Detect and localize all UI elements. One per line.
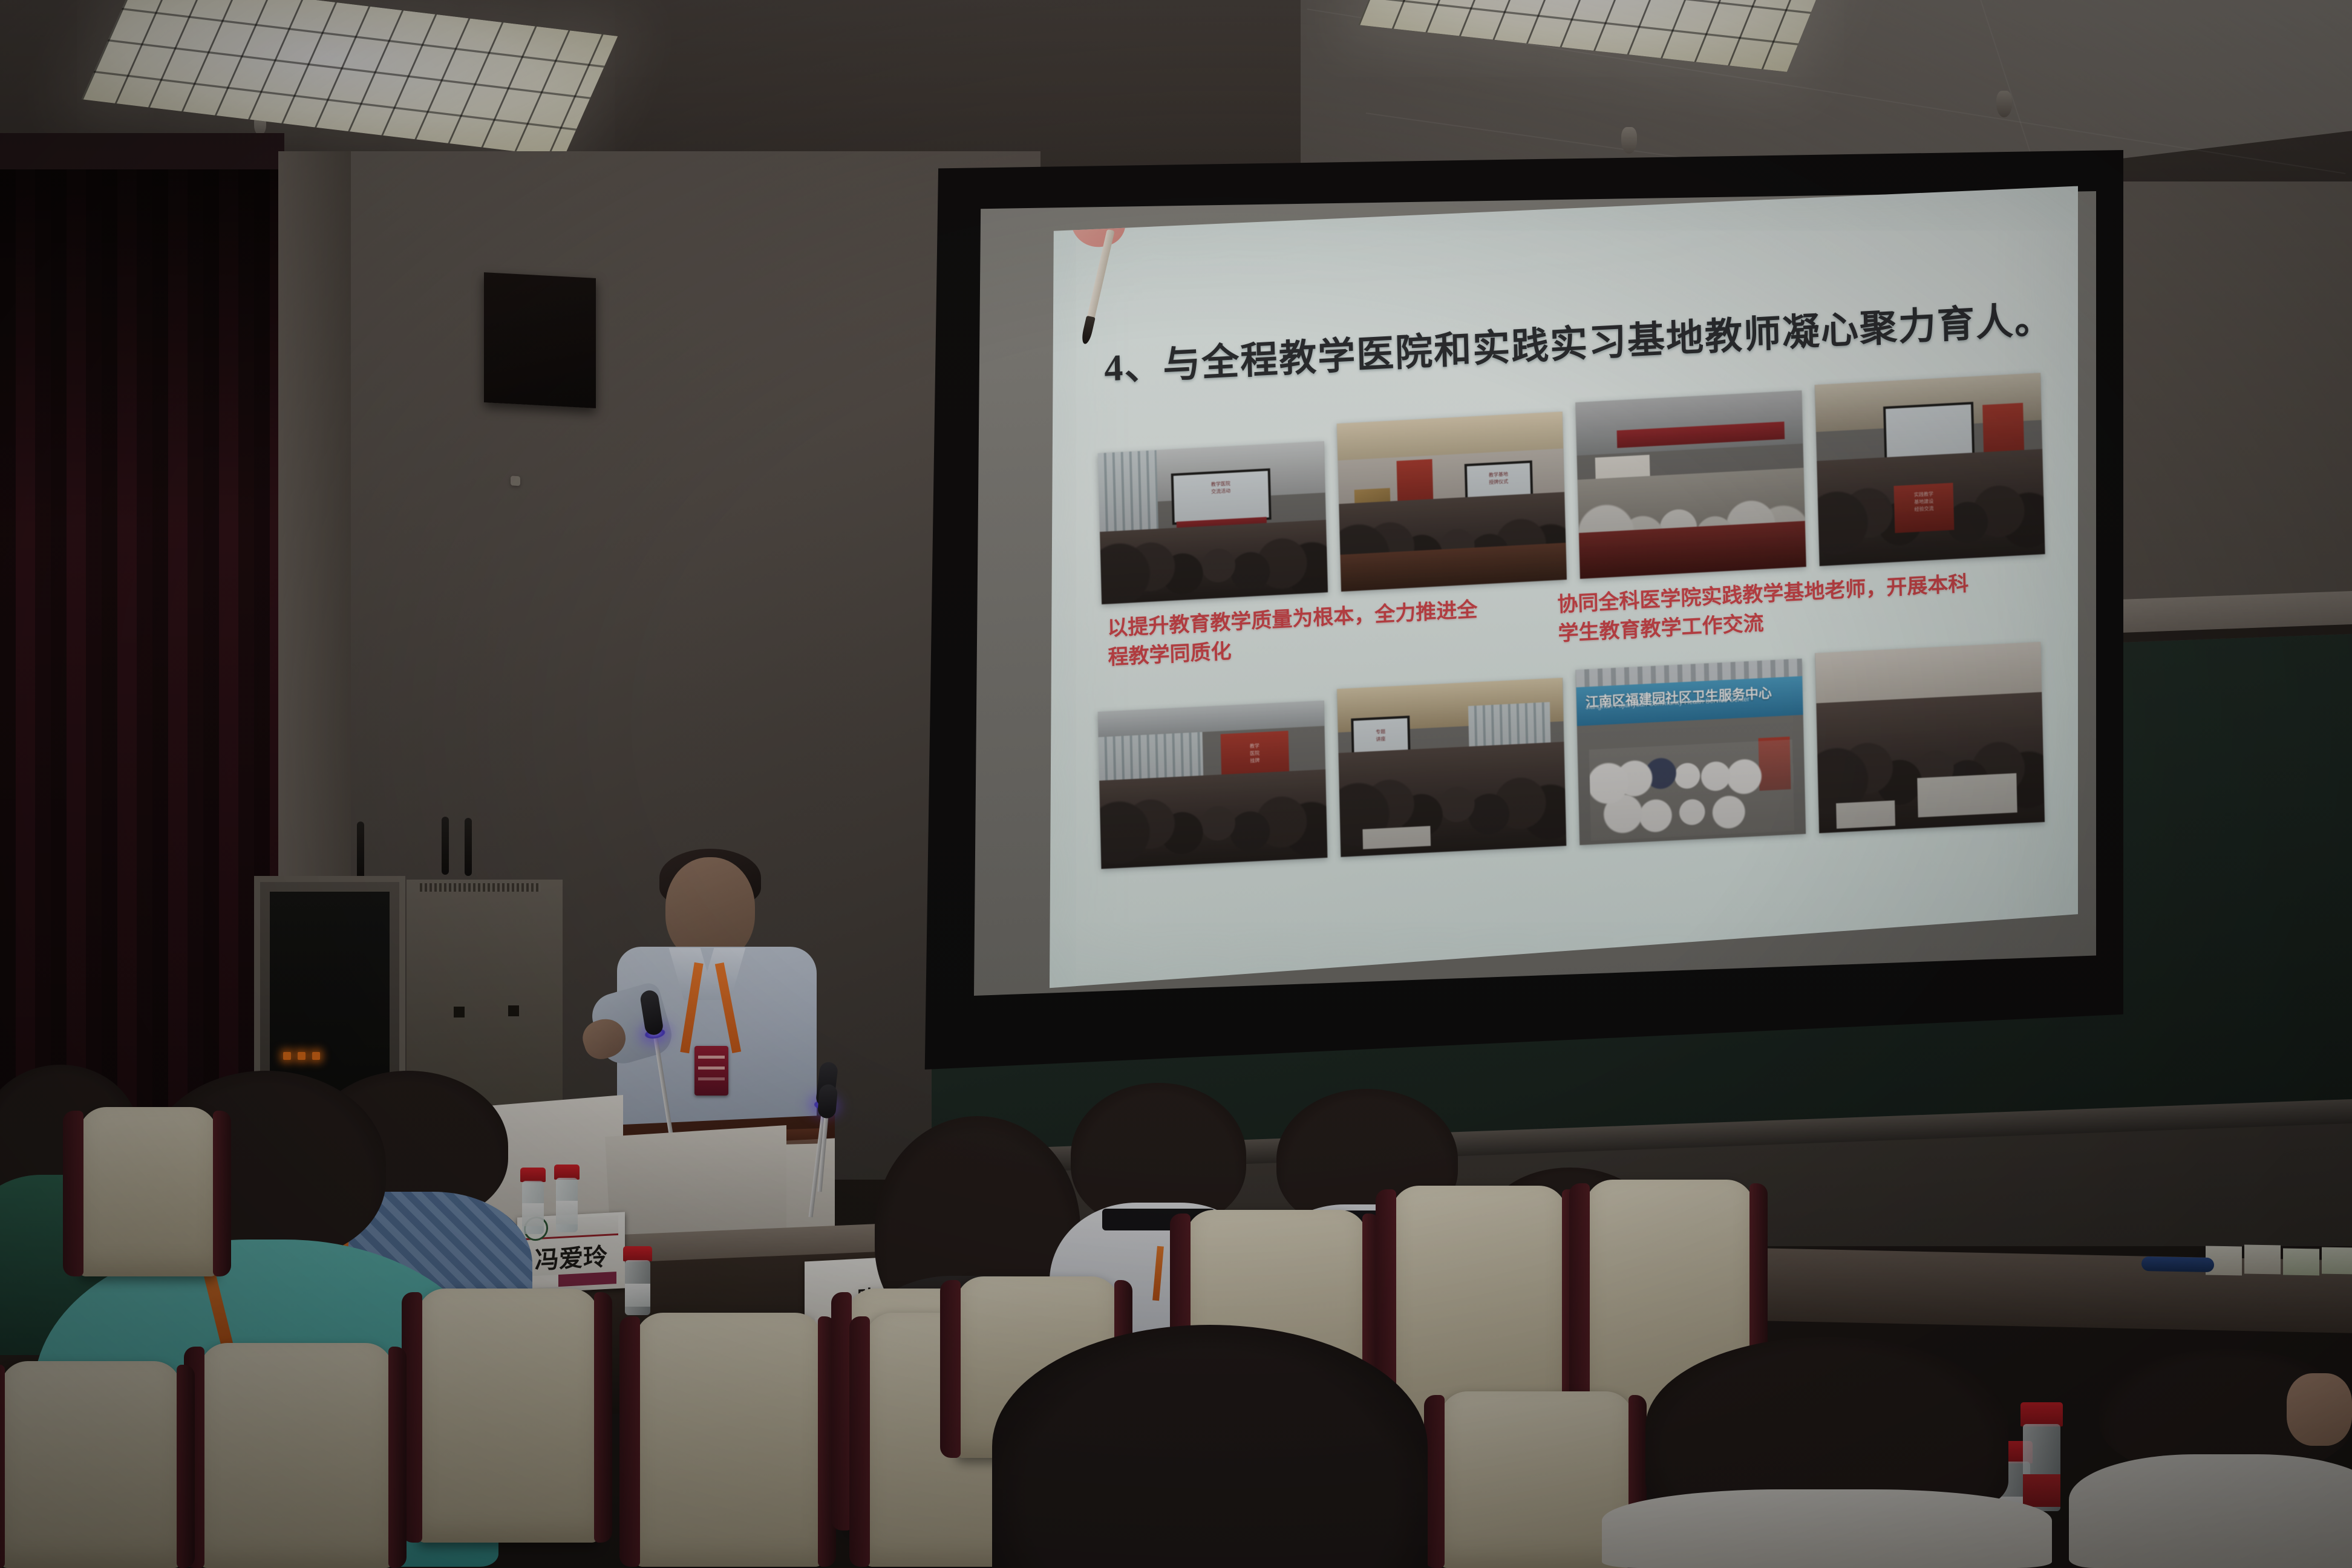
- chair: [0, 1361, 181, 1568]
- slide-photo-row-top: 教学医院交流活动 教学基地授牌仪式: [1097, 373, 2045, 604]
- slide-caption-left: 以提升教育教学质量为根本，全力推进全程教学同质化: [1107, 595, 1495, 673]
- presenter-head: [665, 857, 755, 961]
- water-bottle: [520, 1168, 546, 1234]
- water-bottle: [554, 1165, 580, 1232]
- lock-icon: [508, 1005, 519, 1016]
- slide-photo-community-health-center: 江南区福建园社区卫生服务中心 Jiangnan Fujianyuan Commu…: [1576, 659, 1806, 845]
- rack-status-leds: [283, 1052, 320, 1060]
- slide-title: 4、与全程教学医院和实践实习基地教师凝心聚力育人。: [1103, 289, 2048, 391]
- water-bottle: [623, 1246, 652, 1315]
- slide-photo-documents: [1815, 642, 2045, 833]
- chair: [417, 1289, 599, 1543]
- antenna-icon: [357, 822, 364, 880]
- attendee-hand: [2287, 1373, 2352, 1446]
- presenter-id-badge: [694, 1046, 728, 1096]
- supply-box: [2244, 1244, 2281, 1274]
- slide-photo-hall-seminar: [1575, 390, 1806, 579]
- namecard-name: 冯爱玲: [517, 1236, 625, 1277]
- chair: [635, 1313, 823, 1567]
- slide-photo-classroom: 教学医院挂牌: [1098, 701, 1327, 869]
- slide-photo-roundtable: 实践教学基地建设经验交流: [1814, 373, 2045, 566]
- slide-photo-row-bottom: 教学医院挂牌 专题讲座: [1097, 647, 2045, 869]
- slide-photo-lobby-group: 教学医院交流活动: [1098, 441, 1328, 604]
- projection-screen: 4、与全程教学医院和实践实习基地教师凝心聚力育人。 教学医院交流活动: [895, 150, 2123, 1070]
- projected-slide: 4、与全程教学医院和实践实习基地教师凝心聚力育人。 教学医院交流活动: [1050, 185, 2078, 993]
- blue-pouch: [2141, 1256, 2214, 1272]
- lock-icon: [454, 1007, 465, 1018]
- sprinkler-head-icon: [1996, 91, 2012, 117]
- water-bottle: [2020, 1402, 2063, 1511]
- vent-grille: [420, 883, 541, 892]
- attendee-ponytail-white-top: [1645, 1337, 2008, 1568]
- chair: [200, 1343, 393, 1568]
- antenna-icon: [465, 818, 472, 876]
- slide-caption-right: 协同全科医学院实践教学基地老师，开展本科学生教育教学工作交流: [1557, 569, 1982, 649]
- lecture-hall-photo: 4、与全程教学医院和实践实习基地教师凝心聚力育人。 教学医院交流活动: [0, 0, 2352, 1568]
- slide-photo-award-wall: 教学基地授牌仪式: [1336, 411, 1567, 592]
- speaker-brand-badge: [511, 475, 520, 486]
- chair: [79, 1107, 218, 1276]
- supply-box: [2283, 1248, 2319, 1275]
- antenna-icon: [442, 817, 449, 875]
- wall-speaker-icon: [484, 272, 596, 408]
- attendee-foreground-head: [992, 1325, 1428, 1568]
- supply-box: [2322, 1247, 2352, 1275]
- slide-photo-auditorium: 专题讲座: [1337, 678, 1567, 857]
